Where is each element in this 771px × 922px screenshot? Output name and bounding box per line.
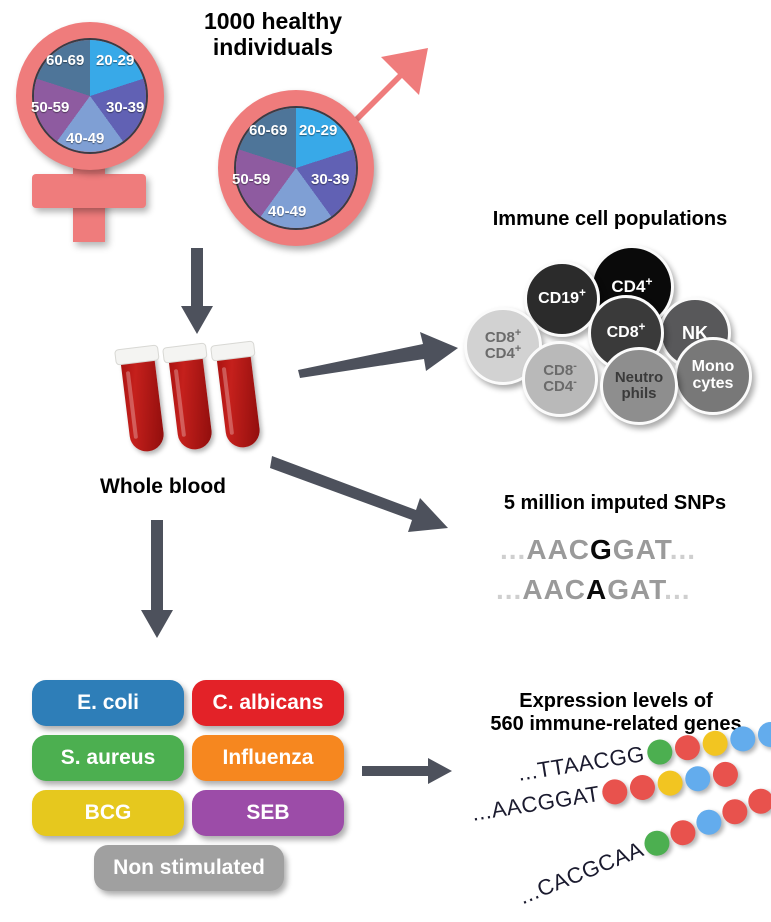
snp-right: GAT <box>607 574 664 605</box>
stimulus-button-bcg[interactable]: BCG <box>32 790 184 836</box>
gene-bead <box>656 768 685 797</box>
pie-label-20-29: 20-29 <box>96 52 134 69</box>
pie-label-60-69: 60-69 <box>46 52 84 69</box>
snp-suffix: ... <box>664 574 690 605</box>
immune-cell-cd8minus-cd4minus: CD8-CD4- <box>522 341 598 417</box>
pie-label-20-29: 20-29 <box>299 122 337 139</box>
arrow-down-cohort-to-blood <box>178 248 216 334</box>
stimulus-button-s-aureus[interactable]: S. aureus <box>32 735 184 781</box>
stimulus-button-seb[interactable]: SEB <box>192 790 344 836</box>
snp-prefix: ... <box>500 534 526 565</box>
blood-tube-body <box>216 350 261 449</box>
immune-cell-cluster: CD4+ CD19+ NK CD8+ CD8+CD4+ Monocytes CD… <box>462 245 762 420</box>
female-symbol-crossbar <box>32 174 146 208</box>
arrow-blood-to-snps <box>270 448 450 534</box>
stimulus-button-influenza[interactable]: Influenza <box>192 735 344 781</box>
gene-bead <box>667 816 700 849</box>
gene-bead <box>744 784 771 817</box>
immune-cell-monocytes: Monocytes <box>674 337 752 415</box>
pie-label-30-39: 30-39 <box>311 171 349 188</box>
blood-tube-body <box>120 354 165 453</box>
immune-cell-label: CD4+ <box>611 278 652 296</box>
stimulus-label: Influenza <box>222 746 313 770</box>
gene-bead <box>673 733 702 762</box>
blood-tube <box>168 352 213 451</box>
arrow-down-blood-to-stimuli <box>138 520 176 638</box>
female-gender-symbol: 20-29 30-39 40-49 50-59 60-69 <box>8 12 218 242</box>
snp-sequence-row: ...AACGGAT... <box>500 534 696 566</box>
arrow-stimuli-to-expression <box>362 756 452 786</box>
immune-cells-title: Immune cell populations <box>460 208 760 231</box>
gene-sequence: ...AACGGAT <box>470 781 602 827</box>
immune-cell-label: Neutrophils <box>615 370 663 402</box>
pie-label-40-49: 40-49 <box>66 130 104 147</box>
gene-bead <box>756 720 771 749</box>
gene-bead <box>628 773 657 802</box>
pie-label-50-59: 50-59 <box>232 171 270 188</box>
gene-bead <box>684 764 713 793</box>
stimulus-label: E. coli <box>77 691 139 715</box>
snp-allele: G <box>590 534 613 565</box>
gene-bead <box>645 737 674 766</box>
gene-sequence: ...CACGCAA <box>515 836 647 910</box>
gene-expression-strands: ...TTAACGG ...AACGGAT ...CACGCAA <box>440 745 771 915</box>
whole-blood-label: Whole blood <box>78 475 248 499</box>
immune-cell-label: CD8+ <box>607 325 646 342</box>
stimulus-label: C. albicans <box>213 691 324 715</box>
arrow-blood-to-immune-cells <box>296 330 460 378</box>
whole-blood-tubes <box>110 348 290 468</box>
blood-tube-body <box>168 352 213 451</box>
snp-sequences: ...AACGGAT... ...AACAGAT... <box>490 530 750 620</box>
immune-cell-label: CD19+ <box>538 291 586 308</box>
pie-label-50-59: 50-59 <box>31 99 69 116</box>
stimuli-panel: E. coli C. albicans S. aureus Influenza … <box>32 680 342 895</box>
blood-tube <box>120 354 165 453</box>
male-gender-symbol: 20-29 30-39 40-49 50-59 60-69 <box>200 40 430 250</box>
stimulus-button-non-stimulated[interactable]: Non stimulated <box>94 845 284 891</box>
immune-cell-neutrophils: Neutrophils <box>600 347 678 425</box>
pie-label-30-39: 30-39 <box>106 99 144 116</box>
gene-bead <box>719 795 752 828</box>
expression-title-line1: Expression levels of <box>468 690 764 713</box>
stimulus-label: SEB <box>246 801 289 825</box>
stimulus-label: S. aureus <box>61 746 156 770</box>
snp-prefix: ... <box>496 574 522 605</box>
stimulus-button-e-coli[interactable]: E. coli <box>32 680 184 726</box>
snps-title: 5 million imputed SNPs <box>470 492 760 515</box>
snp-left: AAC <box>522 574 586 605</box>
stimulus-label: Non stimulated <box>113 856 265 880</box>
snp-right: GAT <box>613 534 670 565</box>
immune-cell-label: Monocytes <box>692 359 735 393</box>
immune-cell-label: CD8-CD4- <box>543 363 577 395</box>
snp-suffix: ... <box>670 534 696 565</box>
snp-allele: A <box>586 574 607 605</box>
gene-bead <box>728 724 757 753</box>
snp-sequence-row: ...AACAGAT... <box>496 574 691 606</box>
gene-bead <box>711 760 740 789</box>
gene-bead <box>693 805 726 838</box>
snp-left: AAC <box>526 534 590 565</box>
immune-cell-label: CD8+CD4+ <box>485 330 521 362</box>
gene-bead <box>641 826 674 859</box>
gene-bead <box>701 728 730 757</box>
blood-tube <box>216 350 261 449</box>
pie-label-60-69: 60-69 <box>249 122 287 139</box>
stimulus-button-c-albicans[interactable]: C. albicans <box>192 680 344 726</box>
gene-bead <box>601 777 630 806</box>
stimulus-label: BCG <box>85 801 132 825</box>
pie-label-40-49: 40-49 <box>268 203 306 220</box>
